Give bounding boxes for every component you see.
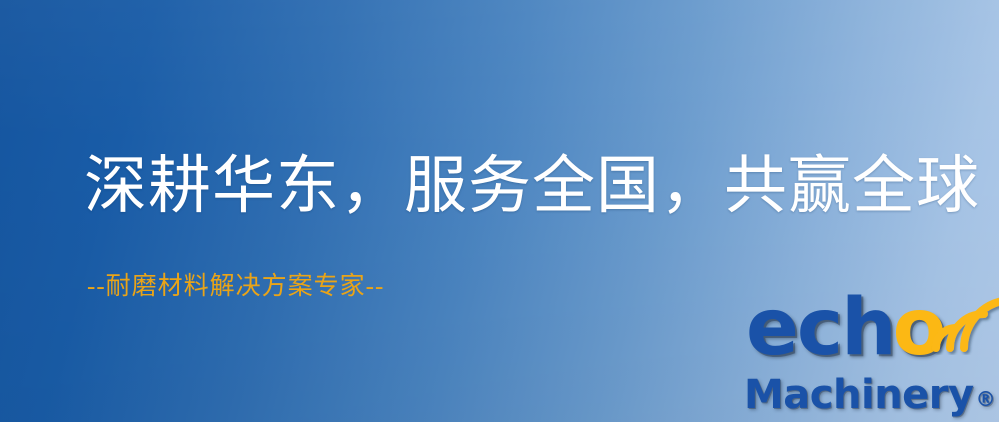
banner-headline: 深耕华东，服务全国，共赢全球 bbox=[84, 153, 980, 219]
logo-wordmark: ech o bbox=[746, 288, 946, 366]
promo-banner: 深耕华东，服务全国，共赢全球 --耐磨材料解决方案专家-- ech o Mach… bbox=[0, 0, 999, 422]
banner-subheadline: --耐磨材料解决方案专家-- bbox=[87, 266, 384, 302]
company-logo: ech o Machinery® bbox=[744, 296, 999, 422]
logo-subtext: Machinery® bbox=[744, 372, 995, 418]
signal-waves-icon bbox=[930, 291, 999, 355]
registered-trademark-icon: ® bbox=[976, 387, 996, 411]
logo-text-machinery: Machinery bbox=[744, 372, 974, 418]
logo-text-ech: ech bbox=[746, 290, 895, 366]
